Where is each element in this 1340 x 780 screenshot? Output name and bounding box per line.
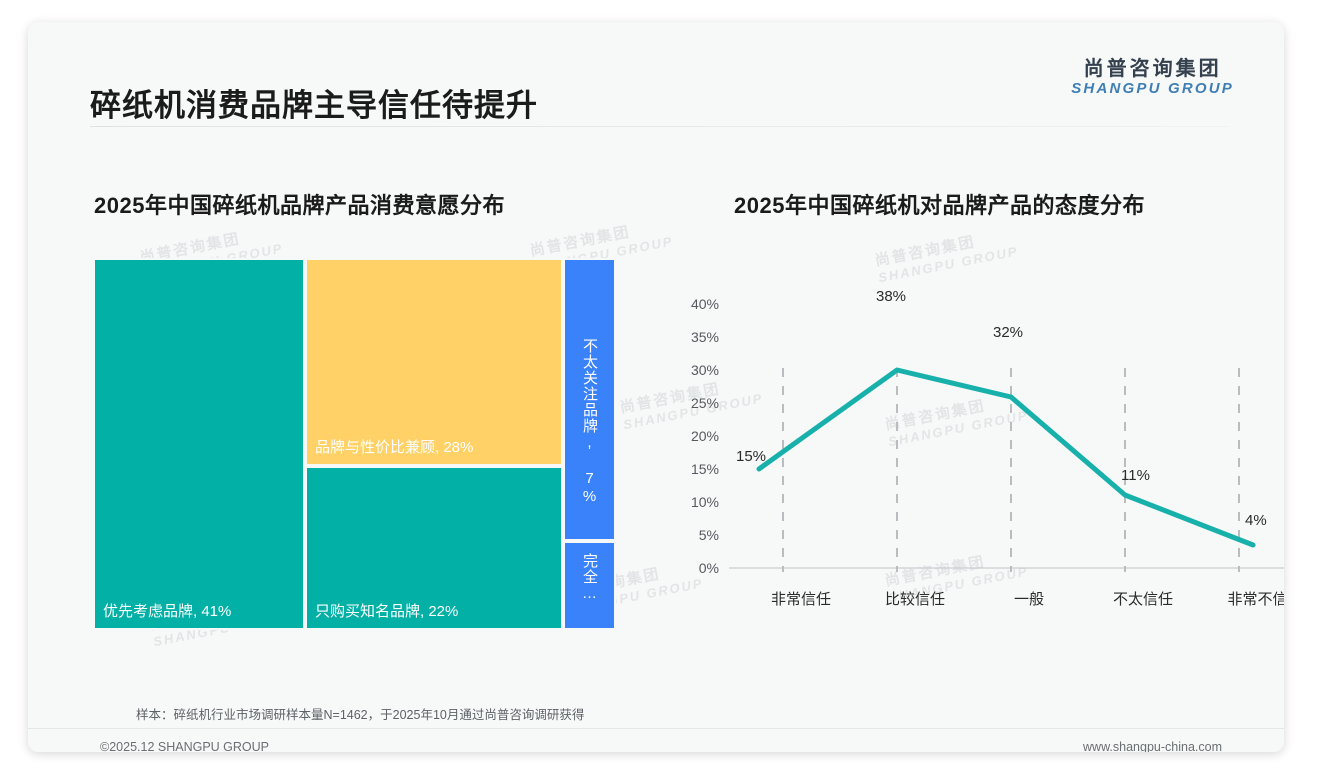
brand-logo: 尚普咨询集团 SHANGPU GROUP [1071,58,1234,98]
treemap-tile-label: 不太关注品牌, 7% [579,338,600,506]
data-label: 32% [993,324,1023,341]
data-label: 38% [876,288,906,305]
website-link[interactable]: www.shangpu-china.com [1083,740,1222,752]
data-label: 15% [736,448,766,465]
treemap-chart-title: 2025年中国碎纸机品牌产品消费意愿分布 [94,188,505,220]
line-chart-title: 2025年中国碎纸机对品牌产品的态度分布 [734,188,1145,220]
x-axis-tick-label: 不太信任 [1113,588,1173,609]
slide-header: 碎纸机消费品牌主导信任待提升 尚普咨询集团 SHANGPU GROUP [28,22,1284,126]
footer-divider [28,728,1284,729]
x-axis-tick-label: 比较信任 [885,588,945,609]
treemap-tile-famous-brand-only[interactable]: 只购买知名品牌, 22% [305,466,563,630]
line-chart-plot [673,272,1284,612]
treemap-tile-low-brand-attention[interactable]: 不太关注品牌, 7% [563,258,616,541]
line-chart: 40% 35% 30% 25% 20% 15% 10% 5% 0% 15% 38… [673,272,1284,612]
data-label: 4% [1245,512,1267,529]
treemap-tile-label: 完全… [579,553,600,603]
data-label: 11% [1121,467,1150,484]
sample-footnote: 样本：碎纸机行业市场调研样本量N=1462，于2025年10月通过尚普咨询调研获… [136,704,584,723]
treemap-tile-no-brand-attention[interactable]: 完全… [563,541,616,630]
x-axis-tick-label: 一般 [1014,588,1044,609]
logo-english-text: SHANGPU GROUP [1071,80,1234,98]
treemap-tile-label: 只购买知名品牌, 22% [315,600,458,621]
line-series-path [759,370,1253,545]
x-axis-tick-label: 非常信任 [771,588,831,609]
slide-card: 碎纸机消费品牌主导信任待提升 尚普咨询集团 SHANGPU GROUP 尚普咨询… [28,22,1284,752]
header-divider [90,126,1230,127]
x-axis-tick-label: 非常不信任 [1227,588,1284,609]
page-title: 碎纸机消费品牌主导信任待提升 [90,80,538,125]
treemap-tile-label: 优先考虑品牌, 41% [103,600,231,621]
treemap-tile-priority-brand[interactable]: 优先考虑品牌, 41% [93,258,305,630]
treemap-tile-label: 品牌与性价比兼顾, 28% [315,436,473,457]
logo-chinese-text: 尚普咨询集团 [1071,58,1234,80]
treemap-tile-brand-and-value[interactable]: 品牌与性价比兼顾, 28% [305,258,563,466]
treemap-chart: 优先考虑品牌, 41% 品牌与性价比兼顾, 28% 只购买知名品牌, 22% 不… [93,258,638,630]
copyright-text: ©2025.12 SHANGPU GROUP [100,740,269,752]
